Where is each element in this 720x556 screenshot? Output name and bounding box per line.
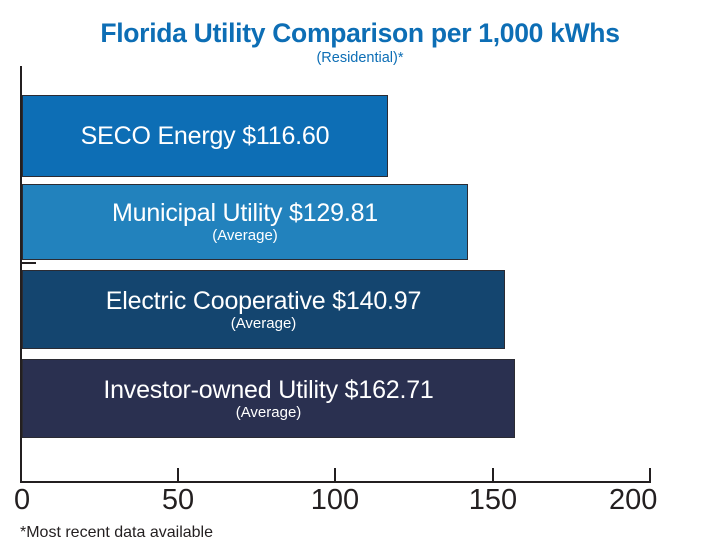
chart-footnote: *Most recent data available xyxy=(20,524,213,542)
x-tick-label-200: 200 xyxy=(609,486,657,515)
x-tick-50 xyxy=(177,468,179,482)
bar-municipal-utility[interactable]: Municipal Utility $129.81 (Average) xyxy=(22,184,468,260)
bar-label: Investor-owned Utility $162.71 xyxy=(103,376,433,404)
x-tick-label-100: 100 xyxy=(311,486,359,515)
x-tick-label-50: 50 xyxy=(162,486,194,515)
plot-area: 0 50 100 150 200 SECO Energy $116.60 Mun… xyxy=(0,0,720,556)
bar-investor-owned-utility[interactable]: Investor-owned Utility $162.71 (Average) xyxy=(22,359,515,438)
bar-electric-cooperative[interactable]: Electric Cooperative $140.97 (Average) xyxy=(22,270,505,349)
bar-label: SECO Energy $116.60 xyxy=(81,122,330,150)
axis-minor-tick-mark xyxy=(22,262,36,264)
bar-seco-energy[interactable]: SECO Energy $116.60 xyxy=(22,95,388,177)
bar-sublabel: (Average) xyxy=(231,316,297,333)
x-tick-0 xyxy=(20,468,22,482)
x-tick-150 xyxy=(492,468,494,482)
bar-sublabel: (Average) xyxy=(212,228,278,245)
x-tick-label-0: 0 xyxy=(14,486,30,515)
x-tick-200 xyxy=(649,468,651,482)
bar-sublabel: (Average) xyxy=(236,405,302,422)
x-tick-label-150: 150 xyxy=(469,486,517,515)
chart-root: Florida Utility Comparison per 1,000 kWh… xyxy=(0,0,720,556)
bar-label: Municipal Utility $129.81 xyxy=(112,199,378,227)
bar-label: Electric Cooperative $140.97 xyxy=(106,287,421,315)
x-tick-100 xyxy=(334,468,336,482)
